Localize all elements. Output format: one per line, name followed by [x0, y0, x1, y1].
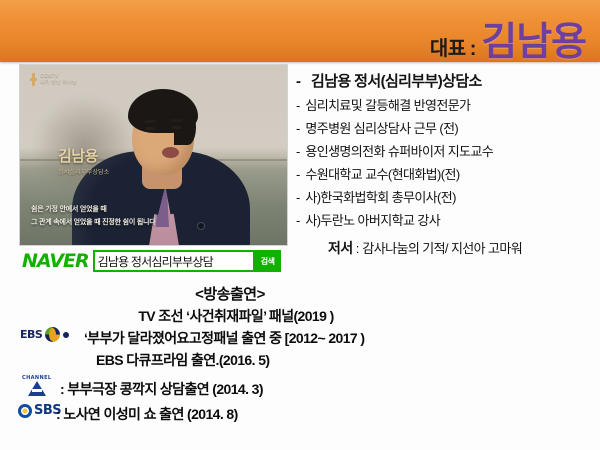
list-item: - 명주병원 심리상담사 근무 (전) — [296, 118, 596, 137]
slide-canvas: 대표 : 김남용 CGNTV 내가 만난 하나님 김남용 — [0, 0, 600, 450]
header-person-name: 김남용 — [481, 24, 586, 61]
broadcast-line-ebs-panel: ‘부부가 달라졌어요고정패널 출연 중 [2012~ 2017 ) — [84, 328, 364, 348]
sbs-logo-icon: SBS — [18, 403, 61, 418]
list-item-label: 김남용 정서(심리부부)상담소 — [306, 70, 482, 91]
bullet-dash: - — [296, 122, 300, 135]
naver-search-bar[interactable]: NAVER 김남용 정서심리부부상담 검색 — [22, 250, 281, 272]
search-button[interactable]: 검색 — [255, 250, 281, 272]
sbs-ring-icon — [18, 404, 32, 418]
search-input[interactable]: 김남용 정서심리부부상담 — [93, 250, 255, 272]
person-eye-left — [146, 127, 155, 130]
bullet-dash: - — [296, 145, 300, 158]
photo-overlay-subtitle: 정서심리부부상담소 — [58, 167, 109, 176]
list-item-label: 명주병원 심리상담사 근무 (전) — [305, 118, 458, 137]
ebs-logo-icon: EBS — [20, 327, 69, 342]
list-item: - 김남용 정서(심리부부)상담소 — [296, 70, 596, 91]
caption-line-1: 쉼은 가정 안에서 얻었을 때 — [31, 204, 156, 214]
person-mouth — [162, 147, 179, 158]
cross-icon — [30, 73, 37, 86]
list-item-label: 수원대학교 교수(현대화법)(전) — [305, 164, 459, 183]
broadcast-line-sbs: : 노사연 이성미 쇼 출연 (2014. 8) — [56, 404, 238, 424]
ebs-dot-icon — [63, 332, 69, 338]
broadcaster-watermark-logo: CGNTV 내가 만난 하나님 — [30, 73, 77, 86]
header-title: 대표 : 김남용 — [430, 24, 586, 61]
list-item-label: 사)두란노 아버지학교 강사 — [305, 210, 440, 229]
profile-credentials-list: - 김남용 정서(심리부부)상담소 - 심리치료및 갈등해결 반영전문가 - 명… — [296, 70, 596, 258]
list-item: - 수원대학교 교수(현대화법)(전) — [296, 164, 596, 183]
header-role-label: 대표 — [430, 32, 466, 61]
books-label: 저서 — [328, 238, 353, 258]
channel-a-triangle-icon — [28, 381, 46, 396]
photo-overlay-name: 김남용 — [58, 145, 98, 166]
broadcast-line-tvchosun: TV 조선 ‘사건취재파일’ 패널(2019 ) — [0, 306, 600, 326]
person-eyebrow-right — [171, 119, 183, 123]
list-item-label: 용인생명의전화 슈퍼바이저 지도교수 — [305, 141, 493, 160]
broadcast-appearances-section: <방송출연> TV 조선 ‘사건취재파일’ 패널(2019 ) EBS ‘부부가… — [0, 283, 600, 326]
lapel-microphone-icon — [198, 223, 204, 229]
channel-a-logo-icon: CHANNEL — [22, 378, 52, 390]
photo-subtitle-caption: 쉼은 가정 안에서 얻었을 때 그 관계 속에서 얻었을 때 진정한 쉼이 됩니… — [31, 204, 156, 227]
ebs-logo-text: EBS — [20, 328, 42, 341]
list-item: - 심리치료및 갈등해결 반영전문가 — [296, 95, 596, 114]
list-item-label: 사)한국화법학회 총무이사(전) — [305, 187, 456, 206]
caption-line-2: 그 관계 속에서 얻었을 때 진정한 쉼이 됩니다 — [31, 217, 156, 227]
bullet-dash: - — [296, 74, 301, 89]
bullet-dash: - — [296, 214, 300, 227]
watermark-line-2: 내가 만난 하나님 — [40, 80, 77, 85]
bullet-dash: - — [296, 99, 300, 112]
list-item: - 용인생명의전화 슈퍼바이저 지도교수 — [296, 141, 596, 160]
photo-name-overlay: 김남용 정서심리부부상담소 — [58, 145, 109, 176]
bullet-dash: - — [296, 168, 300, 181]
list-item: - 사)두란노 아버지학교 강사 — [296, 210, 596, 229]
list-item: - 사)한국화법학회 총무이사(전) — [296, 187, 596, 206]
ebs-disc-icon — [45, 327, 60, 342]
published-books-row: 저서 : 감사나눔의 기적/ 지선아 고마워 — [296, 238, 596, 258]
books-value: 감사나눔의 기적/ 지선아 고마워 — [362, 238, 522, 257]
list-item-label: 심리치료및 갈등해결 반영전문가 — [305, 95, 470, 114]
broadcast-line-ebs-docu: EBS 다큐프라임 출연.(2016. 5) — [96, 350, 269, 370]
search-input-value: 김남용 정서심리부부상담 — [98, 253, 213, 270]
broadcast-section-title: <방송출연> — [0, 283, 600, 304]
header-band: 대표 : 김남용 — [0, 0, 600, 62]
header-separator: : — [468, 38, 480, 61]
profile-photo: CGNTV 내가 만난 하나님 김남용 정서심리부부상담소 쉼은 가정 안에서 … — [19, 64, 288, 246]
person-eye-right — [172, 126, 181, 129]
bullet-dash: - — [296, 191, 300, 204]
naver-logo: NAVER — [22, 250, 93, 272]
broadcast-line-channel-a: : 부부극장 콩깍지 상담출연 (2014. 3) — [60, 379, 263, 399]
books-separator: : — [356, 241, 360, 256]
